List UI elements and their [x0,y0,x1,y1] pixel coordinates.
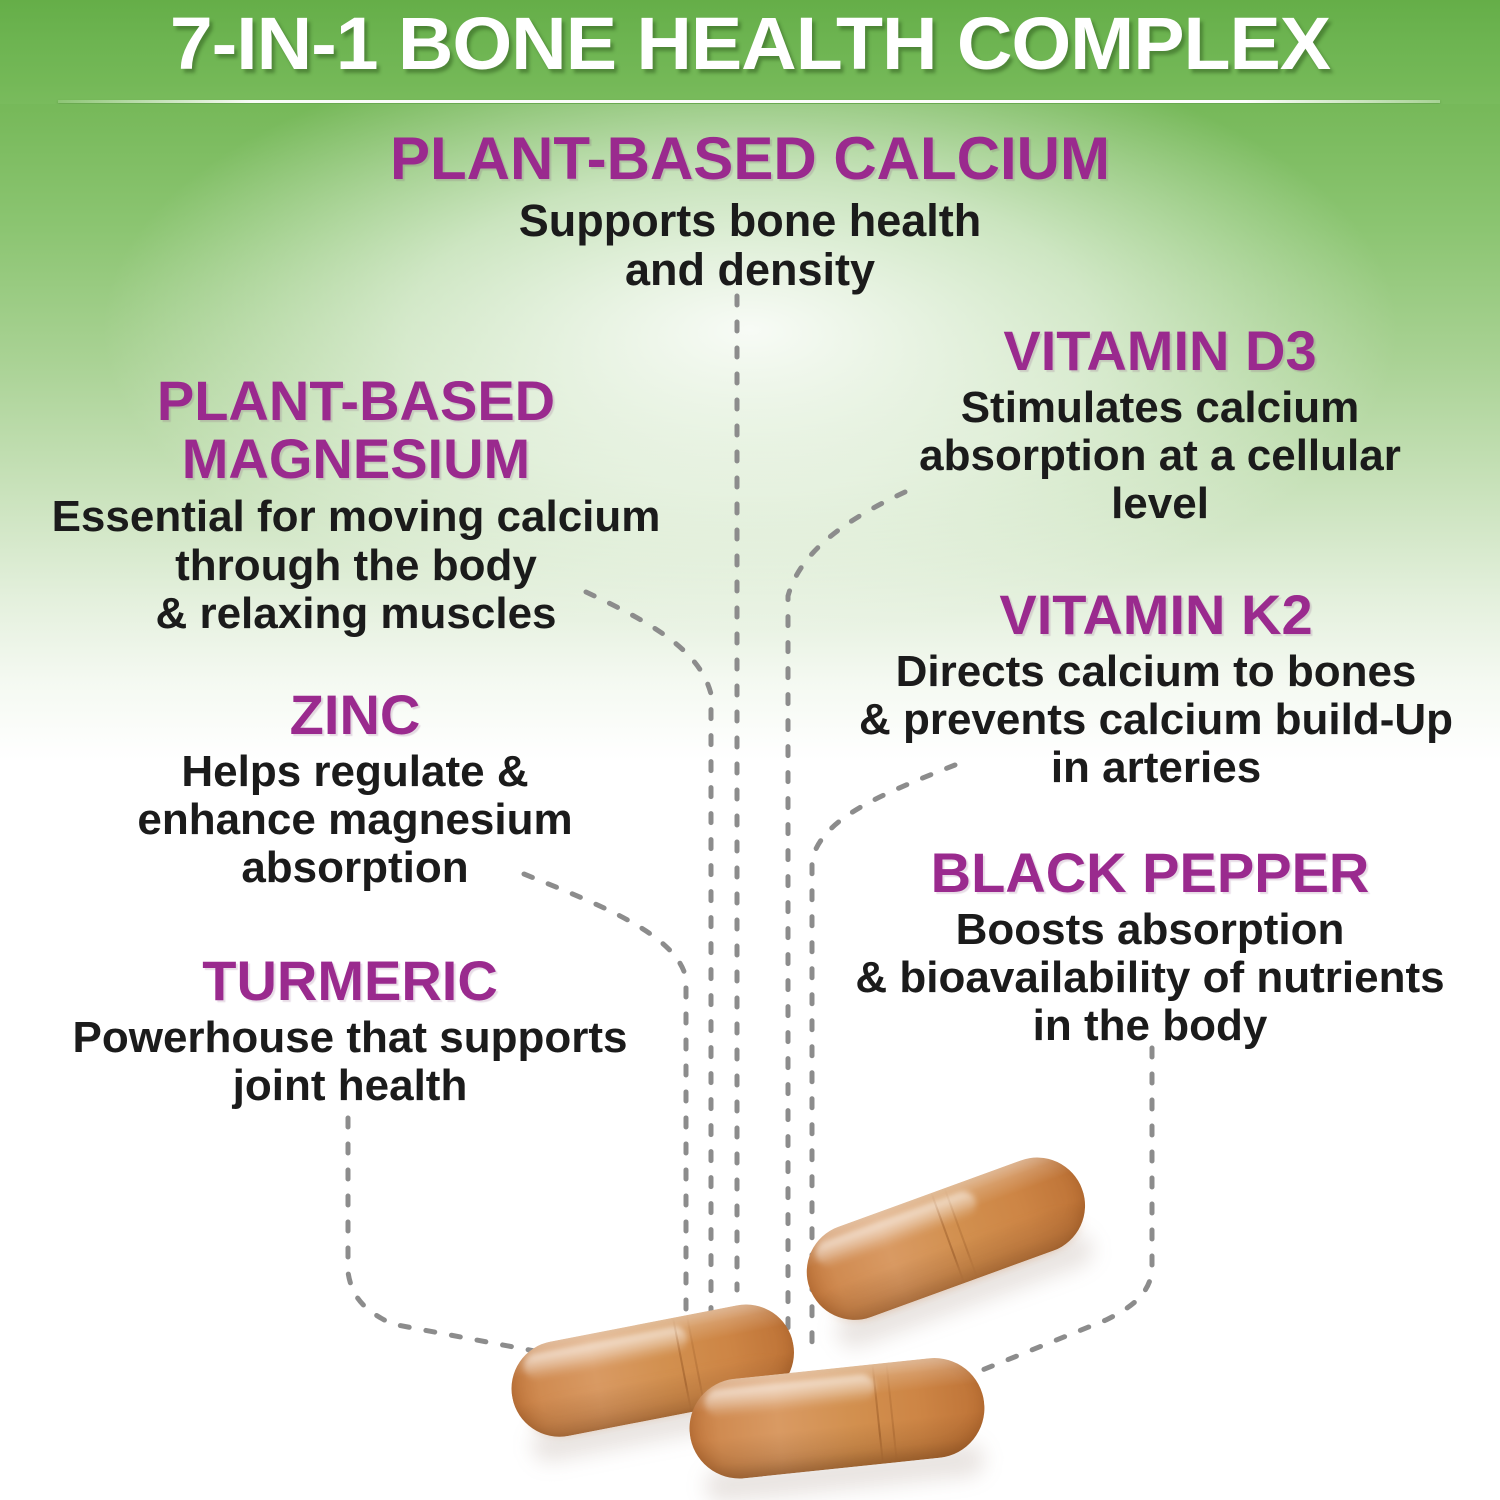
nutrient-description-turmeric: Powerhouse that supportsjoint health [0,1014,700,1111]
capsule-highlight [703,1373,876,1417]
bone-health-infographic: 7-IN-1 BONE HEALTH COMPLEX PLANT-BASED C… [0,0,1500,1500]
nutrient-title-vitamin-k2: VITAMIN K2 [812,586,1500,644]
capsule-seam [885,1363,897,1463]
nutrient-description-black-pepper: Boosts absorption& bioavailability of nu… [800,906,1500,1051]
nutrient-title-zinc: ZINC [10,686,700,744]
page-title: 7-IN-1 BONE HEALTH COMPLEX [0,4,1500,84]
connector-turmeric [348,1118,540,1352]
nutrient-title-magnesium: PLANT-BASEDMAGNESIUM [0,372,712,487]
nutrient-block-vitamin-d3: VITAMIN D3 Stimulates calciumabsorption … [830,322,1490,529]
capsule-seam [872,1364,884,1464]
header-banner: 7-IN-1 BONE HEALTH COMPLEX [0,0,1500,104]
nutrient-block-vitamin-k2: VITAMIN K2 Directs calcium to bones& pre… [812,586,1500,793]
nutrient-description-vitamin-d3: Stimulates calciumabsorption at a cellul… [830,384,1490,529]
nutrient-block-magnesium: PLANT-BASEDMAGNESIUM Essential for movin… [0,372,712,639]
capsule-highlight [522,1324,690,1380]
nutrient-block-calcium: PLANT-BASED CALCIUM Supports bone health… [290,128,1210,295]
header-divider [58,100,1440,103]
nutrient-description-zinc: Helps regulate &enhance magnesiumabsorpt… [10,748,700,893]
nutrient-description-magnesium: Essential for moving calciumthrough the … [0,493,712,638]
nutrient-title-turmeric: TURMERIC [0,952,700,1010]
nutrient-title-vitamin-d3: VITAMIN D3 [830,322,1490,380]
nutrient-block-black-pepper: BLACK PEPPER Boosts absorption& bioavail… [800,844,1500,1051]
nutrient-block-zinc: ZINC Helps regulate &enhance magnesiumab… [10,686,700,893]
nutrient-block-turmeric: TURMERIC Powerhouse that supportsjoint h… [0,952,700,1110]
nutrient-description-vitamin-k2: Directs calcium to bones& prevents calci… [812,648,1500,793]
nutrient-title-calcium: PLANT-BASED CALCIUM [290,128,1210,190]
nutrient-description-calcium: Supports bone healthand density [290,196,1210,295]
capsule-top-right [793,1144,1107,1356]
nutrient-title-black-pepper: BLACK PEPPER [800,844,1500,902]
